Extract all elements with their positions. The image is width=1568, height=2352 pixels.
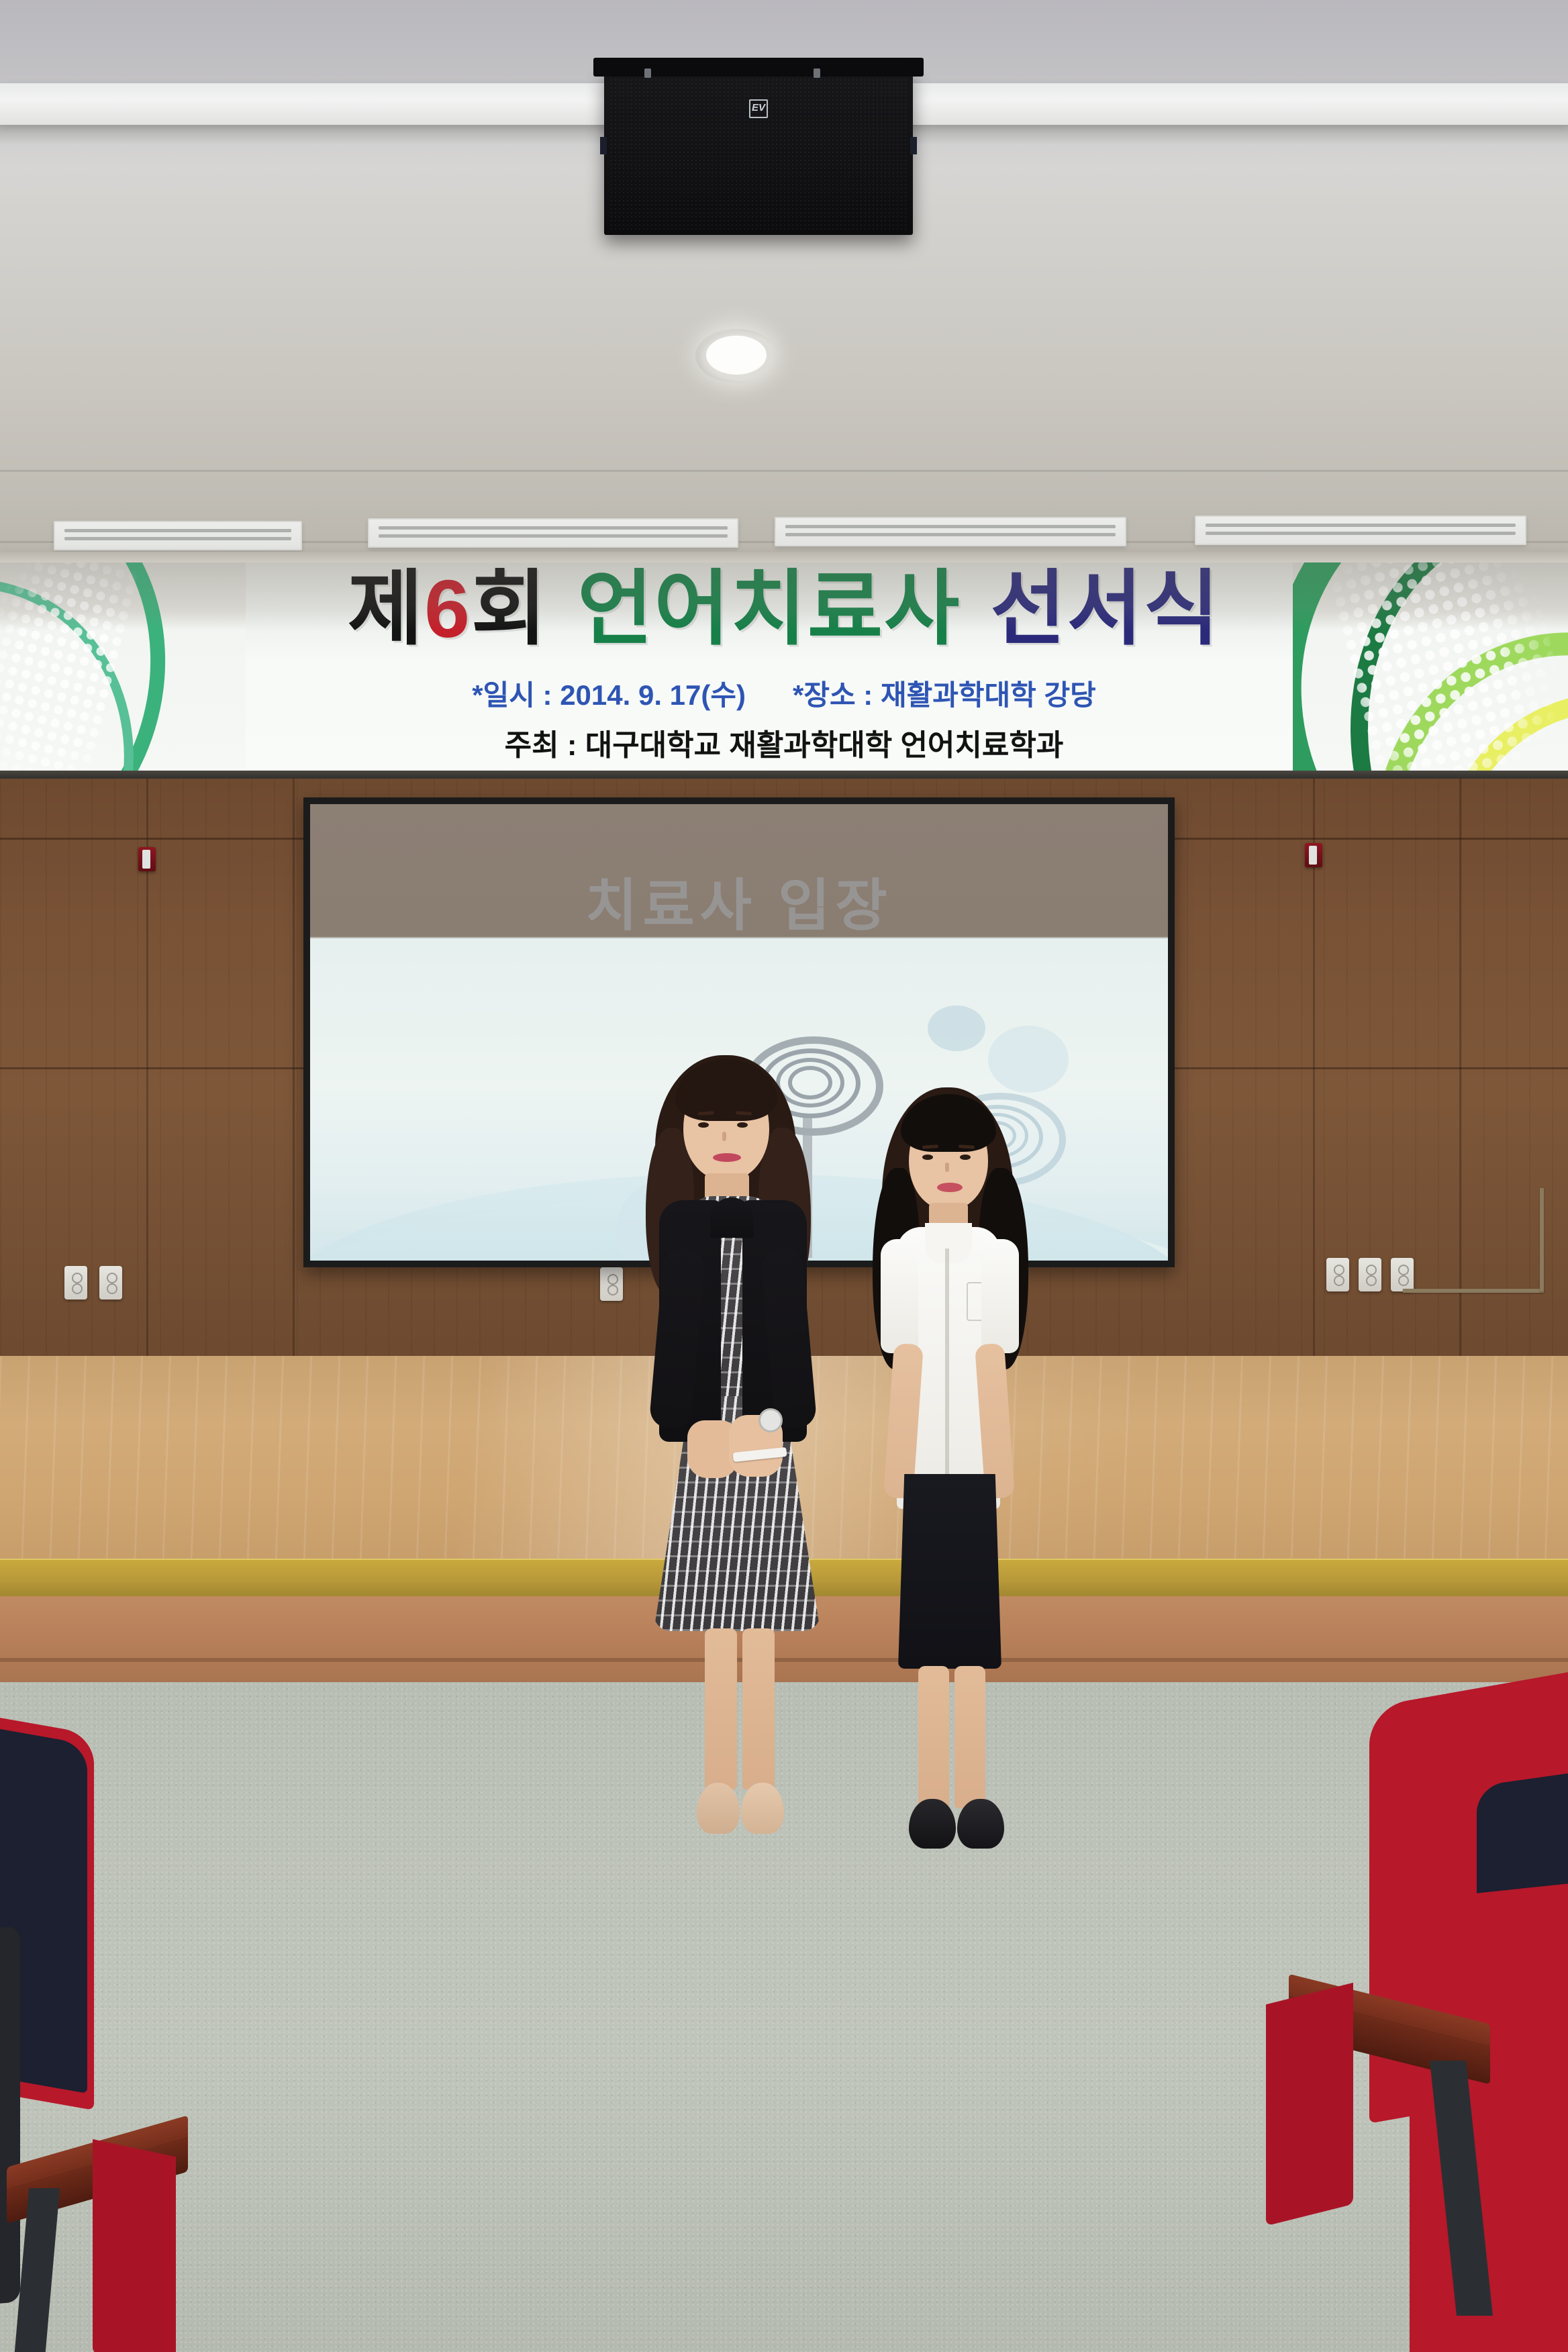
banner-subtitle-row: *일시 : 2014. 9. 17(수)*장소 : 재활과학대학 강당 <box>0 673 1568 714</box>
banner-host-line: 주최 : 대구대학교 재활과학대학 언어치료학과 <box>0 721 1568 764</box>
eye <box>922 1155 933 1160</box>
wall-seam <box>1459 779 1461 1356</box>
speaker-brand-icon: EV <box>749 99 768 118</box>
shoe-right <box>741 1783 784 1834</box>
eye <box>960 1155 971 1160</box>
speaker-screw <box>814 68 820 78</box>
banner-place-line: *장소 : 재활과학대학 강당 <box>793 679 1096 711</box>
cardigan-collar <box>710 1197 753 1238</box>
shoe-left <box>909 1799 956 1849</box>
wristwatch <box>758 1408 783 1432</box>
wall-seam <box>293 779 295 1356</box>
wall-cable <box>1403 1289 1544 1293</box>
wall-outlet-icon[interactable] <box>64 1266 87 1300</box>
banner-top-rail <box>0 552 1568 562</box>
eye <box>698 1122 709 1128</box>
banner-date-line: *일시 : 2014. 9. 17(수) <box>472 679 746 711</box>
slide-blob <box>928 1006 985 1051</box>
air-vent <box>775 517 1126 546</box>
wall-outlet-icon[interactable] <box>1326 1258 1349 1291</box>
person-left <box>631 1047 886 1866</box>
seat-left[interactable] <box>0 1718 195 2352</box>
banner-title-part-2: 6 <box>424 563 471 654</box>
mouth <box>937 1183 963 1192</box>
armrest-side <box>1266 1983 1353 2226</box>
speaker-screw <box>644 68 651 78</box>
blouse-placket <box>945 1248 949 1504</box>
banner-title-part-3: 회 <box>471 563 548 654</box>
sleeve-right <box>981 1239 1019 1353</box>
banner-title-part-5: 선서식 <box>990 563 1220 654</box>
mouth <box>713 1153 741 1162</box>
sleeve-left <box>881 1239 918 1353</box>
ceremony-banner: 제6회언어치료사선서식 *일시 : 2014. 9. 17(수)*장소 : 재활… <box>0 552 1568 780</box>
fire-alarm-strobe-icon <box>1305 843 1322 867</box>
leg-right <box>954 1666 985 1808</box>
banner-title-part-4: 언어치료사 <box>577 563 961 654</box>
leg-left <box>705 1628 737 1790</box>
wall-outlet-icon[interactable] <box>600 1267 623 1301</box>
armrest-side <box>93 2139 176 2352</box>
person-right <box>866 1081 1087 1879</box>
wall-outlet-icon[interactable] <box>99 1266 122 1300</box>
wall-outlet-icon[interactable] <box>1391 1258 1414 1291</box>
slide-title: 치료사 입장 <box>310 861 1168 942</box>
air-vent <box>368 518 738 548</box>
eye <box>737 1122 748 1128</box>
fire-alarm-strobe-icon <box>138 847 156 871</box>
banner-title: 제6회언어치료사선서식 <box>0 568 1568 650</box>
banner-title-part-1: 제 <box>348 563 424 654</box>
wall-cable <box>1540 1188 1544 1291</box>
ceiling-downlight-icon <box>706 336 767 375</box>
speaker-mount-bracket <box>593 58 924 77</box>
shoe-left <box>697 1783 740 1834</box>
speaker-side-tab <box>910 137 917 154</box>
leg-right <box>742 1628 775 1790</box>
seat-cushion-lower <box>0 1926 20 2316</box>
speaker-side-tab <box>600 137 607 154</box>
air-vent <box>54 521 302 550</box>
nose <box>945 1163 949 1172</box>
ceiling-seam <box>0 470 1568 472</box>
shoe-right <box>957 1799 1004 1849</box>
nose <box>722 1132 726 1141</box>
seat-right[interactable] <box>1275 1685 1568 2352</box>
photo-scene: EV 제6회언어치료사선서식 *일시 : 2014. 9. 17(수)*장소 :… <box>0 0 1568 2352</box>
leg-left <box>918 1666 949 1808</box>
skirt <box>898 1474 1001 1669</box>
air-vent <box>1195 516 1526 545</box>
wall-outlet-icon[interactable] <box>1359 1258 1381 1291</box>
ceiling-speaker: EV <box>604 67 913 235</box>
